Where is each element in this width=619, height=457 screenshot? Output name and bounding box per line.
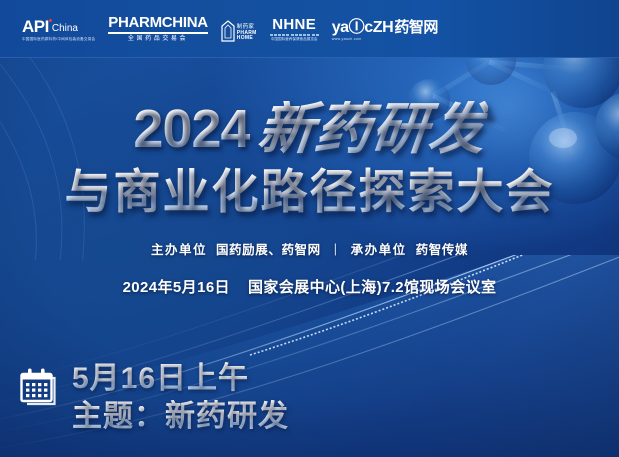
title-year: 2024 xyxy=(133,102,249,156)
api-china-main: API xyxy=(22,18,49,35)
api-china-secondary: China xyxy=(52,24,78,34)
venue-row: 2024年5月16日 国家会展中心(上海)7.2馆现场会议室 xyxy=(0,276,619,297)
yaozh-en: yaⒾcZH xyxy=(332,20,394,36)
co-organizer-value: 药智传媒 xyxy=(416,239,468,258)
sponsor-logo-bar: API China 中国国际医药原料药/中间体包装设备交易会 PHARMCHIN… xyxy=(0,0,619,58)
logo-pharm-home: 制药家 PHARM HOME xyxy=(221,20,257,42)
conference-poster: API China 中国国际医药原料药/中间体包装设备交易会 PHARMCHIN… xyxy=(0,0,619,457)
house-icon xyxy=(221,20,235,42)
yaozh-sub: www.yaozh.com xyxy=(332,38,362,42)
logo-pharmchina: PHARMCHINA 全国药品交易会 xyxy=(108,15,208,42)
title-line-2: 与商业化路径探索大会 xyxy=(0,166,619,218)
event-date: 2024年5月16日 xyxy=(123,276,230,297)
title-line-1: 2024 新药研发 xyxy=(0,96,619,162)
pharm-home-en2: HOME xyxy=(237,36,257,42)
pharmchina-main: PHARMCHINA xyxy=(108,15,208,30)
nhne-sub: 中国国际营养保健食品展览会 xyxy=(271,38,318,42)
poster-title: 2024 新药研发 与商业化路径探索大会 xyxy=(0,96,619,218)
session-block: 5月16日上午 主题：新药研发 xyxy=(18,362,289,433)
session-time: 5月16日上午 xyxy=(72,362,289,396)
host-label: 主办单位 xyxy=(151,239,207,258)
logo-nhne: NHNE 中国国际营养保健食品展览会 xyxy=(270,17,319,42)
event-place: 国家会展中心(上海)7.2馆现场会议室 xyxy=(248,276,496,297)
pharmchina-rule xyxy=(108,32,208,34)
session-topic: 主题：新药研发 xyxy=(72,400,289,434)
organizer-row: 主办单位 国药励展、药智网 | 承办单位 药智传媒 xyxy=(0,239,619,258)
yaozh-cn: 药智网 xyxy=(394,20,438,35)
pharmchina-sub: 全国药品交易会 xyxy=(128,36,188,42)
logo-yaozh: yaⒾcZH 药智网 www.yaozh.com xyxy=(332,20,438,42)
organizer-separator: | xyxy=(330,242,342,256)
co-organizer-label: 承办单位 xyxy=(351,239,407,258)
calendar-icon xyxy=(18,366,58,406)
api-china-sub: 中国国际医药原料药/中间体包装设备交易会 xyxy=(22,38,95,42)
title-calligraphy: 新药研发 xyxy=(255,101,489,157)
api-china-dot xyxy=(49,19,52,22)
logo-api-china: API China 中国国际医药原料药/中间体包装设备交易会 xyxy=(22,18,95,42)
host-value: 国药励展、药智网 xyxy=(216,239,321,258)
nhne-main: NHNE xyxy=(272,17,316,32)
